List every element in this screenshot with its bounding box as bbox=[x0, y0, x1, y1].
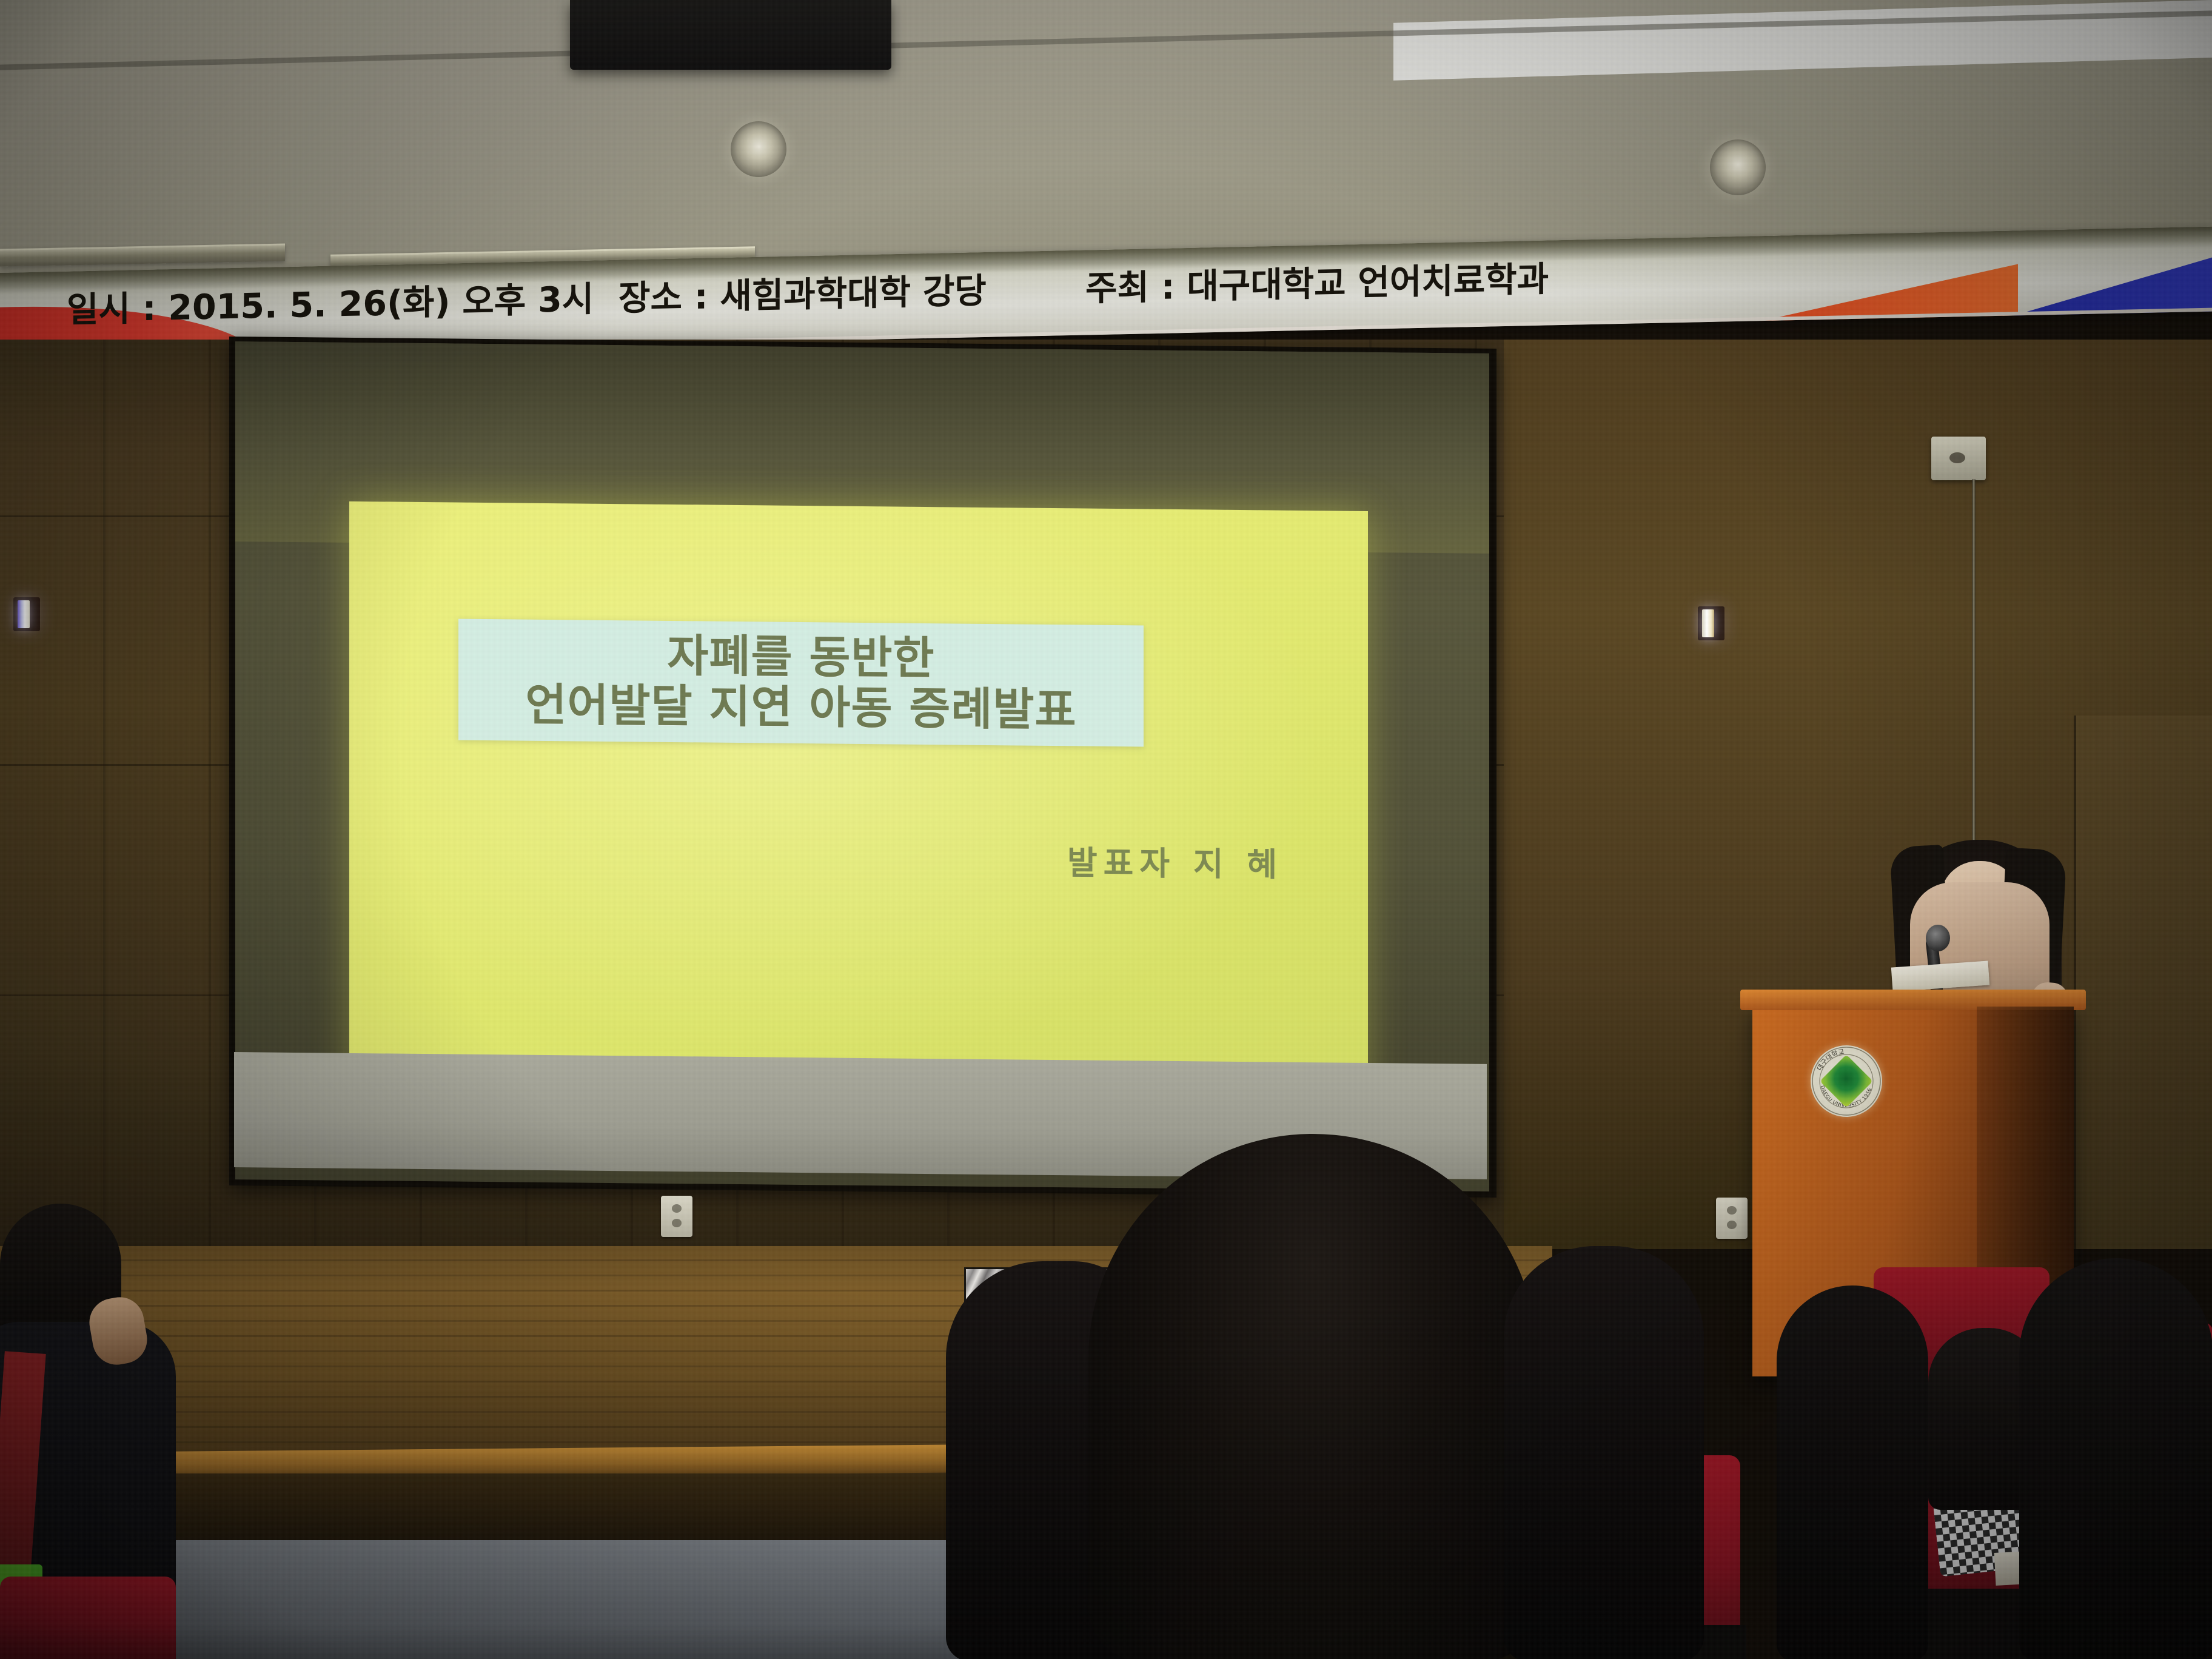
wall-power-outlet-icon bbox=[661, 1196, 692, 1237]
ceiling-upper-strip bbox=[1393, 0, 2212, 81]
auditorium-seat bbox=[0, 1577, 176, 1659]
downlight-icon bbox=[1710, 139, 1766, 195]
downlight-icon bbox=[731, 121, 786, 177]
sconce-bulb bbox=[18, 600, 30, 628]
slide-title-line-2: 언어발달 지연 아동 증례발표 bbox=[525, 680, 1076, 736]
banner-place-text: 장소 : 새힘과학대학 강당 bbox=[618, 263, 987, 321]
audience-head bbox=[1504, 1246, 1704, 1659]
air-vent bbox=[0, 243, 285, 266]
banner-host-text: 주최 : 대구대학교 언어치료학과 bbox=[1085, 252, 1549, 311]
audience-head bbox=[1088, 1134, 1537, 1659]
wall-sconce-light-icon bbox=[13, 597, 40, 631]
presentation-slide: 자폐를 동반한 언어발달 지연 아동 증례발표 발표자 지 혜 bbox=[349, 501, 1368, 1093]
microphone-head bbox=[1926, 925, 1950, 951]
slide-glow bbox=[349, 501, 1368, 1093]
ceiling-junction-box bbox=[1931, 437, 1986, 480]
slide-title-line-1: 자폐를 동반한 bbox=[667, 631, 934, 684]
lecture-hall-photo: 일시 : 2015. 5. 26(화) 오후 3시 장소 : 새힘과학대학 강당… bbox=[0, 0, 2212, 1659]
junction-box-knob bbox=[1949, 452, 1965, 463]
slide-title-box: 자폐를 동반한 언어발달 지연 아동 증례발표 bbox=[458, 619, 1144, 747]
wall-power-outlet-icon bbox=[1716, 1198, 1748, 1239]
wall-sconce-light-icon bbox=[1698, 606, 1724, 640]
slide-presenter-label: 발표자 지 혜 bbox=[1067, 836, 1283, 885]
projection-screen: 자폐를 동반한 언어발달 지연 아동 증례발표 발표자 지 혜 bbox=[229, 337, 1496, 1198]
audience-head bbox=[2019, 1258, 2212, 1659]
university-seal-icon: 대구대학교 DAEGU UNIVERSITY 1956 bbox=[1811, 1045, 1882, 1117]
banner-date-text: 일시 : 2015. 5. 26(화) 오후 3시 bbox=[67, 271, 594, 332]
sconce-bulb bbox=[1702, 609, 1714, 637]
hanging-cable bbox=[1972, 479, 1976, 855]
wall-right-corner bbox=[2074, 716, 2212, 1249]
projector-mount bbox=[570, 0, 891, 70]
audience-head bbox=[1777, 1285, 1928, 1659]
